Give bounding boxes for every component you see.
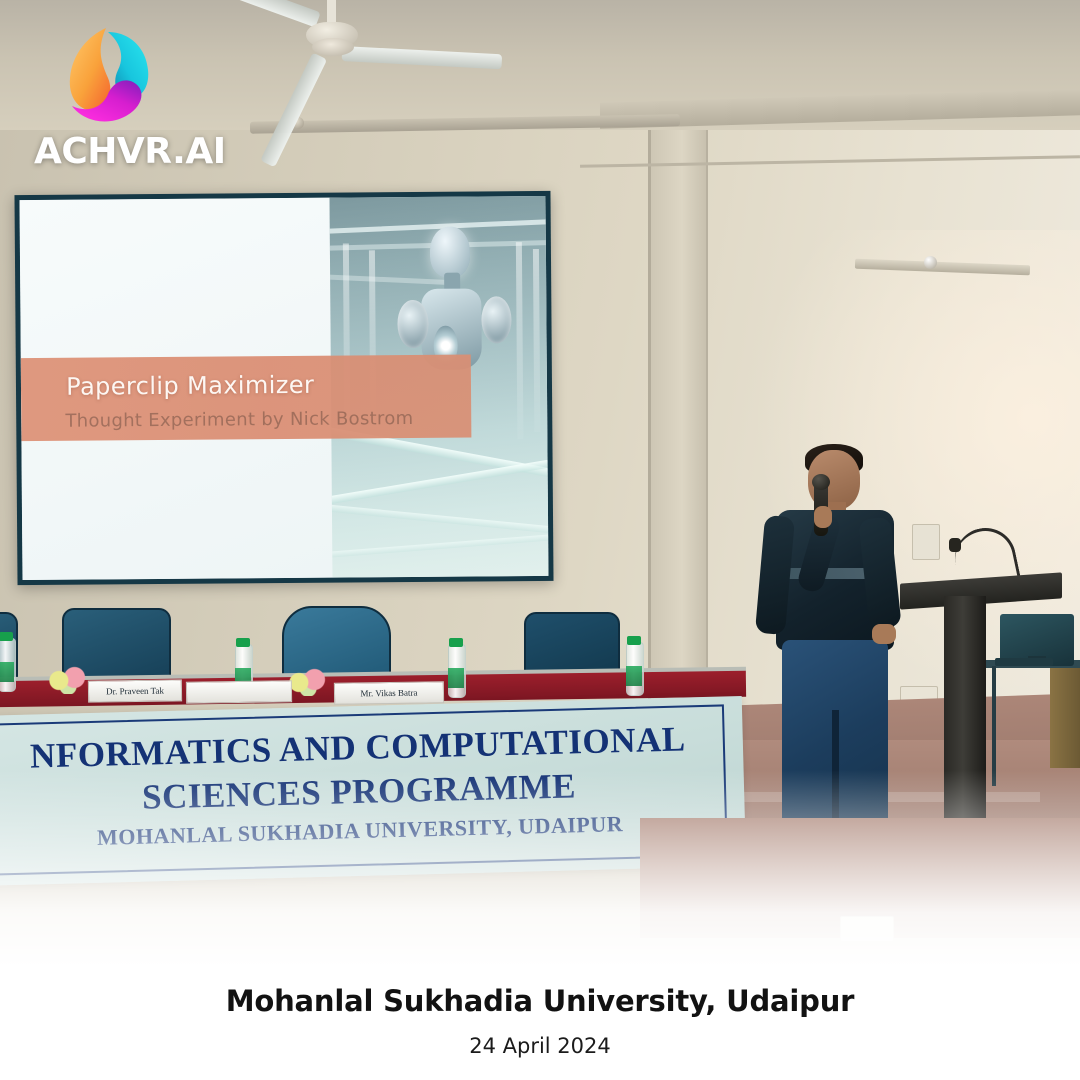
achvr-logo-icon <box>56 22 154 127</box>
wall-pillar <box>650 118 708 718</box>
flower-arrangement <box>286 666 332 696</box>
brand-name: ACHVR.AI <box>34 131 264 172</box>
speaker-hand-on-hip <box>872 624 896 644</box>
caption-date: 24 April 2024 <box>0 1034 1080 1058</box>
speaker-hand <box>814 506 832 528</box>
gooseneck-mic-capsule <box>949 538 961 552</box>
robot-shoulder-joint <box>482 296 513 344</box>
conveyor-belt <box>330 457 549 507</box>
wall-light-knob <box>924 256 937 269</box>
projector-screen: Paperclip Maximizer Thought Experiment b… <box>14 191 553 585</box>
robot-shoulder-joint <box>398 300 429 348</box>
flower-arrangement <box>46 664 92 694</box>
caption-title: Mohanlal Sukhadia University, Udaipur <box>0 984 1080 1018</box>
conveyor-belt <box>330 533 549 558</box>
pillar-seam <box>706 118 708 718</box>
caption-block: Mohanlal Sukhadia University, Udaipur 24… <box>0 984 1080 1080</box>
brand-overlay: ACHVR.AI <box>34 22 264 172</box>
factory-pillar <box>533 249 540 431</box>
conveyor-belt <box>330 504 549 535</box>
equipment-table-legs <box>992 666 1080 786</box>
microphone-head <box>812 474 830 490</box>
nameplate: Dr. Praveen Tak <box>88 679 182 702</box>
fan-hub-lower <box>312 38 354 56</box>
social-media-photo-card: Paperclip Maximizer Thought Experiment b… <box>0 0 1080 1080</box>
nameplate-blank <box>186 680 292 703</box>
photo-white-fade <box>0 770 1080 1000</box>
robot-head <box>430 227 470 278</box>
factory-pillar <box>516 242 524 440</box>
pillar-edge <box>648 118 651 718</box>
nameplate: Mr. Vikas Batra <box>334 681 444 705</box>
slide-title: Paperclip Maximizer <box>66 371 314 401</box>
slide-subtitle: Thought Experiment by Nick Bostrom <box>65 408 413 432</box>
keyboard <box>995 658 1053 666</box>
projected-slide: Paperclip Maximizer Thought Experiment b… <box>20 196 549 580</box>
